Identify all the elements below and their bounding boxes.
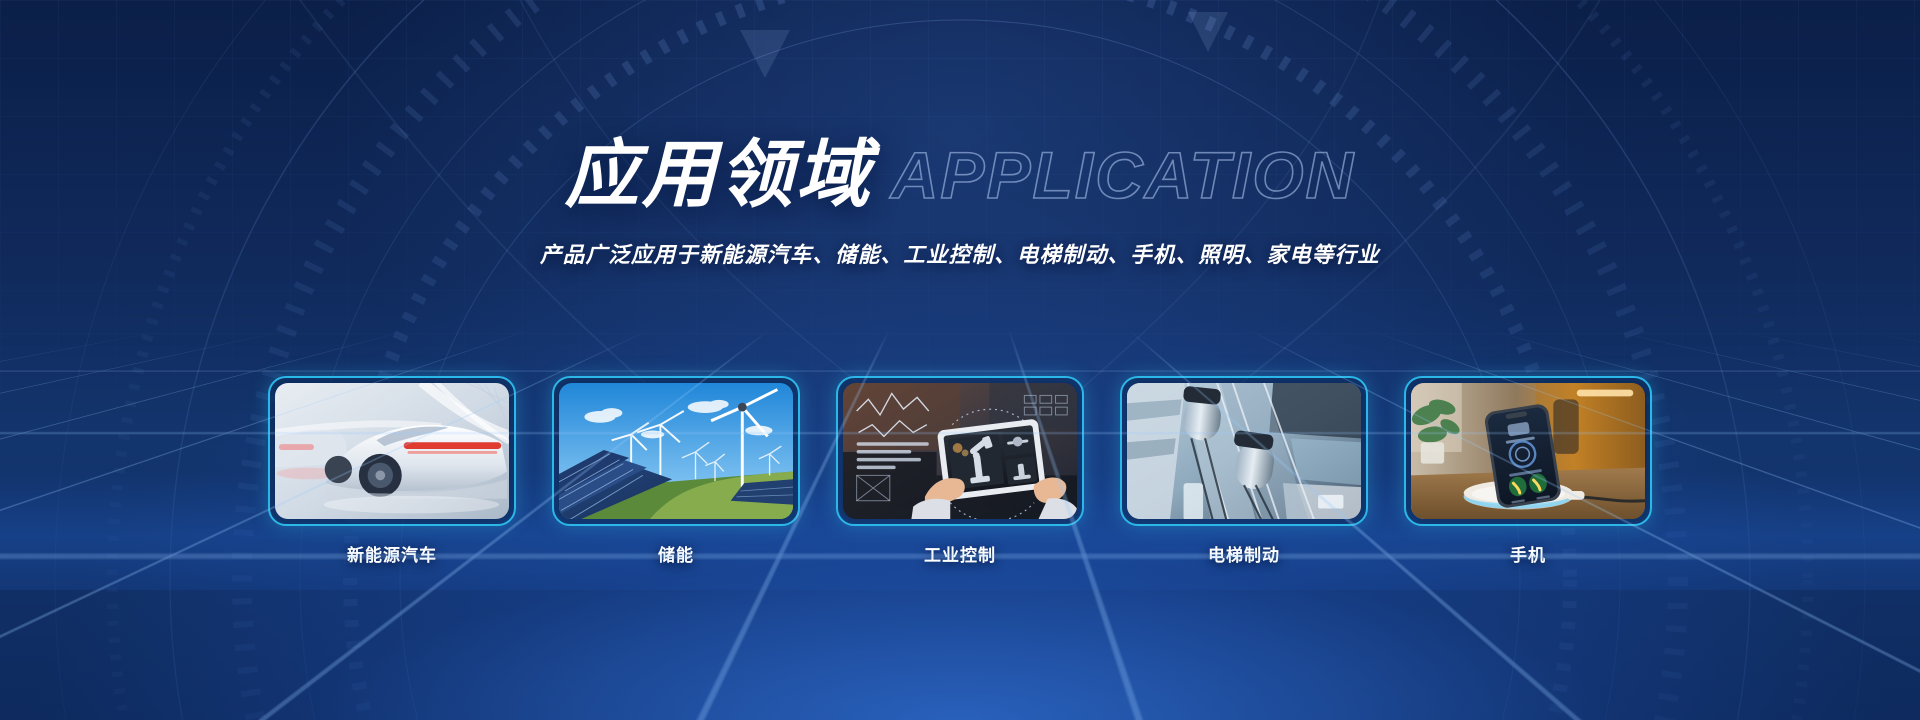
application-card[interactable]: 电梯制动 bbox=[1120, 376, 1368, 566]
application-card[interactable]: 新能源汽车 bbox=[268, 376, 516, 566]
application-banner: 应用领域 APPLICATION 产品广泛应用于新能源汽车、储能、工业控制、电梯… bbox=[0, 0, 1920, 720]
application-card[interactable]: 手机 bbox=[1404, 376, 1652, 566]
banner-subtitle: 产品广泛应用于新能源汽车、储能、工业控制、电梯制动、手机、照明、家电等行业 bbox=[0, 238, 1920, 269]
card-frame[interactable] bbox=[1120, 376, 1368, 526]
page-title-english: APPLICATION bbox=[891, 142, 1355, 208]
card-thumbnail-phone-charger bbox=[1411, 383, 1645, 519]
card-label: 新能源汽车 bbox=[268, 541, 516, 566]
card-thumbnail-electric-car bbox=[275, 383, 509, 519]
card-label: 工业控制 bbox=[836, 541, 1084, 566]
page-title: 应用领域 bbox=[565, 138, 873, 212]
title-row: 应用领域 APPLICATION bbox=[0, 138, 1920, 212]
card-label: 电梯制动 bbox=[1120, 541, 1368, 566]
card-frame[interactable] bbox=[552, 376, 800, 526]
card-frame[interactable] bbox=[1404, 376, 1652, 526]
card-frame[interactable] bbox=[836, 376, 1084, 526]
application-card[interactable]: 工业控制 bbox=[836, 376, 1084, 566]
card-thumbnail-industrial-control bbox=[843, 383, 1077, 519]
application-card[interactable]: 储能 bbox=[552, 376, 800, 566]
card-thumbnail-solar-wind bbox=[559, 383, 793, 519]
card-label: 储能 bbox=[552, 541, 800, 566]
application-card-list: 新能源汽车 bbox=[0, 376, 1920, 566]
card-thumbnail-elevator bbox=[1127, 383, 1361, 519]
card-frame[interactable] bbox=[268, 376, 516, 526]
card-label: 手机 bbox=[1404, 541, 1652, 566]
banner-heading: 应用领域 APPLICATION 产品广泛应用于新能源汽车、储能、工业控制、电梯… bbox=[0, 0, 1920, 269]
